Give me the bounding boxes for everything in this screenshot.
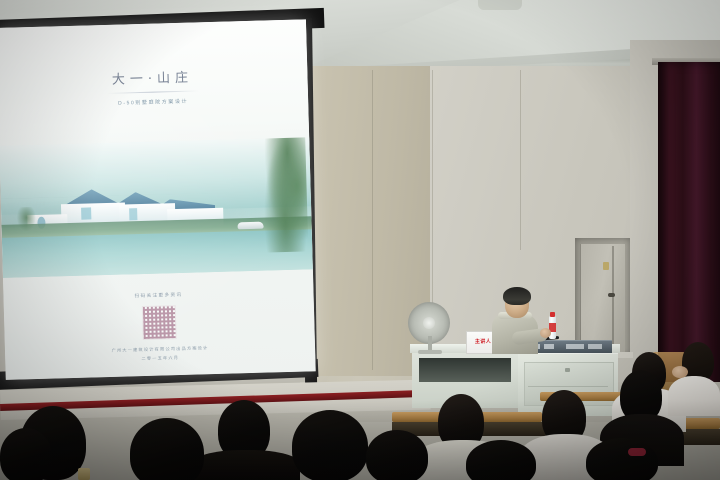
audience-head [466,440,536,480]
presenter-hand [540,328,551,338]
audience-hand [672,366,688,378]
render-tree [259,137,308,252]
lectern-knob[interactable] [565,368,570,372]
presentation-slide: 大一·山庄 D-50别墅庭院方案设计 [0,19,316,380]
audience-shoulders [668,376,720,416]
presenter-hair [503,287,531,305]
projection-screen: 大一·山庄 D-50别墅庭院方案设计 [0,19,316,380]
paper-cup [78,468,90,480]
audience-head [130,418,204,480]
console-key[interactable] [566,344,584,349]
ceiling-vent [478,0,522,10]
audience-head [0,428,52,480]
console-key[interactable] [544,344,554,349]
hair-tie [628,448,646,456]
side-door[interactable] [580,244,625,354]
lectern-left-opening [419,358,511,382]
audience-head [586,438,658,480]
audience-shoulders [192,450,300,480]
slide-footer: 扫码关注更多资讯 广州大一建筑设计有限公司出品方案设计 二零一五年六月 [4,288,316,366]
villa-window [129,208,137,220]
villa-window [81,207,91,219]
wall-seam [372,70,373,370]
slide-title-rule [107,90,199,94]
lectern-panel-seam [528,386,608,387]
villa-render-image [0,137,313,278]
door-handle[interactable] [608,293,615,297]
lecture-hall-photo: 大一·山庄 D-50别墅庭院方案设计 [0,0,720,480]
render-car [238,221,264,229]
audience-head [366,430,428,480]
render-tree [15,207,38,234]
door-stile [612,246,614,352]
wall-seam [520,70,521,250]
qr-code-icon [142,305,177,340]
fan-base [418,350,442,354]
audience-head [292,410,368,480]
bottle-cap [550,312,555,317]
footer-label: 扫码关注更多资讯 [4,288,314,303]
fan-hub [423,317,435,329]
door-lock-icon [603,262,609,270]
door-recess [575,238,630,356]
console-key[interactable] [588,344,602,349]
